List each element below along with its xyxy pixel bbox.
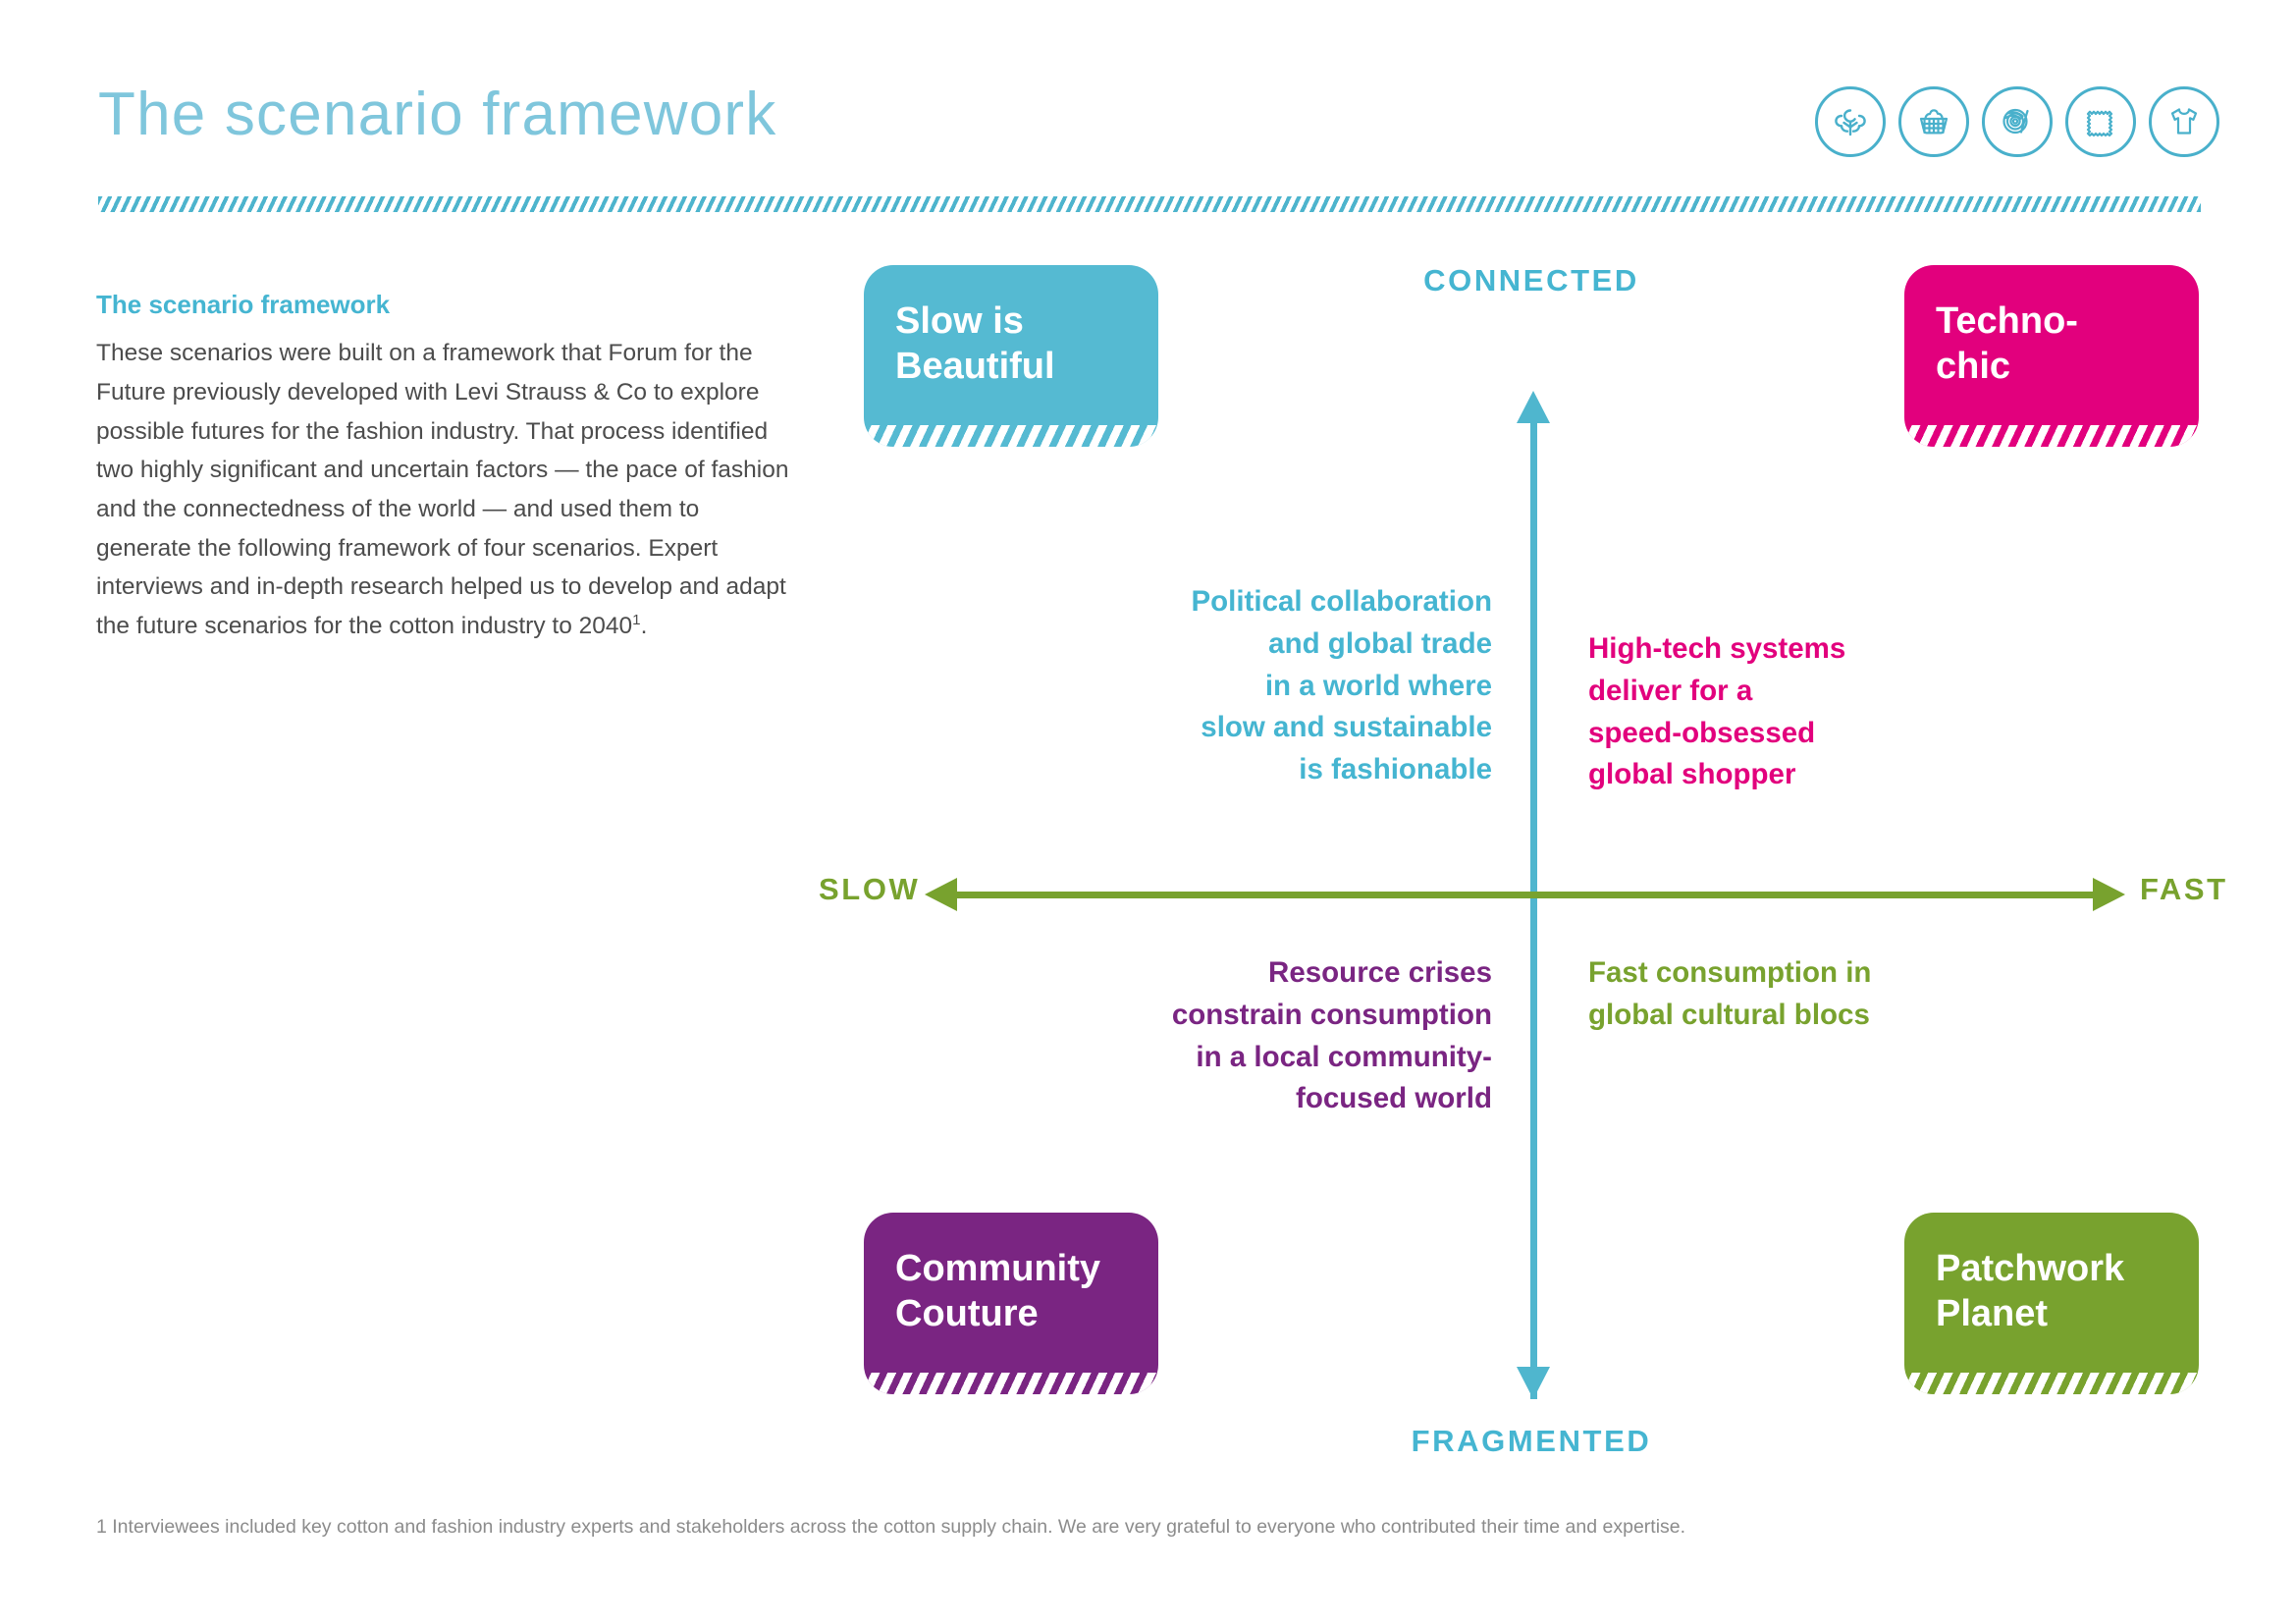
scenario-card-hatch xyxy=(864,425,1158,447)
tshirt-icon xyxy=(2149,86,2219,157)
fabric-swatch-icon xyxy=(2065,86,2136,157)
scenario-card-hatch xyxy=(1904,425,2199,447)
quadrant-text-top-right: High-tech systems deliver for a speed-ob… xyxy=(1588,628,2099,796)
intro-body: These scenarios were built on a framewor… xyxy=(96,334,793,646)
scenario-card-slow-is-beautiful[interactable]: Slow is Beautiful xyxy=(864,265,1158,447)
scenario-card-techno-chic[interactable]: Techno- chic xyxy=(1904,265,2199,447)
fragmented-arrow-head-icon xyxy=(1517,1367,1550,1399)
intro-block: The scenario framework These scenarios w… xyxy=(96,290,793,646)
intro-footnote-marker: 1 xyxy=(632,612,640,628)
axis-label-connected: CONNECTED xyxy=(1256,265,1806,296)
intro-heading: The scenario framework xyxy=(96,290,793,320)
header-hatch-divider xyxy=(98,196,2201,212)
vertical-axis-line xyxy=(1530,407,1537,1399)
scenario-card-title: Patchwork Planet xyxy=(1936,1246,2181,1337)
quadrant-text-bottom-right: Fast consumption in global cultural bloc… xyxy=(1588,952,2099,1037)
thread-spool-needle-icon xyxy=(1982,86,2053,157)
scenario-card-title: Slow is Beautiful xyxy=(895,298,1141,390)
page-title: The scenario framework xyxy=(98,84,776,145)
axis-label-fragmented: FRAGMENTED xyxy=(1256,1426,1806,1456)
fast-arrow-head-icon xyxy=(2093,878,2125,911)
quadrant-text-bottom-left: Resource crises constrain consumption in… xyxy=(982,952,1492,1120)
header-icon-strip xyxy=(1815,86,2219,157)
horizontal-axis-line xyxy=(952,892,2110,898)
quadrant-text-top-left: Political collaboration and global trade… xyxy=(1001,581,1492,791)
axis-label-fast: FAST xyxy=(2140,874,2228,904)
scenario-card-community-couture[interactable]: Community Couture xyxy=(864,1213,1158,1394)
page-footnote: 1 Interviewees included key cotton and f… xyxy=(96,1514,2158,1541)
scenario-card-hatch xyxy=(864,1373,1158,1394)
cotton-boll-icon xyxy=(1815,86,1886,157)
scenario-card-title: Community Couture xyxy=(895,1246,1141,1337)
scenario-card-patchwork-planet[interactable]: Patchwork Planet xyxy=(1904,1213,2199,1394)
scenario-matrix: CONNECTED FRAGMENTED SLOW FAST Political… xyxy=(864,265,2199,1463)
scenario-card-title: Techno- chic xyxy=(1936,298,2181,390)
scenario-card-hatch xyxy=(1904,1373,2199,1394)
intro-body-terminator: . xyxy=(641,613,648,639)
page-header: The scenario framework xyxy=(0,0,2296,226)
intro-body-text: These scenarios were built on a framewor… xyxy=(96,340,788,639)
axis-label-slow: SLOW xyxy=(819,874,920,904)
cotton-basket-icon xyxy=(1898,86,1969,157)
